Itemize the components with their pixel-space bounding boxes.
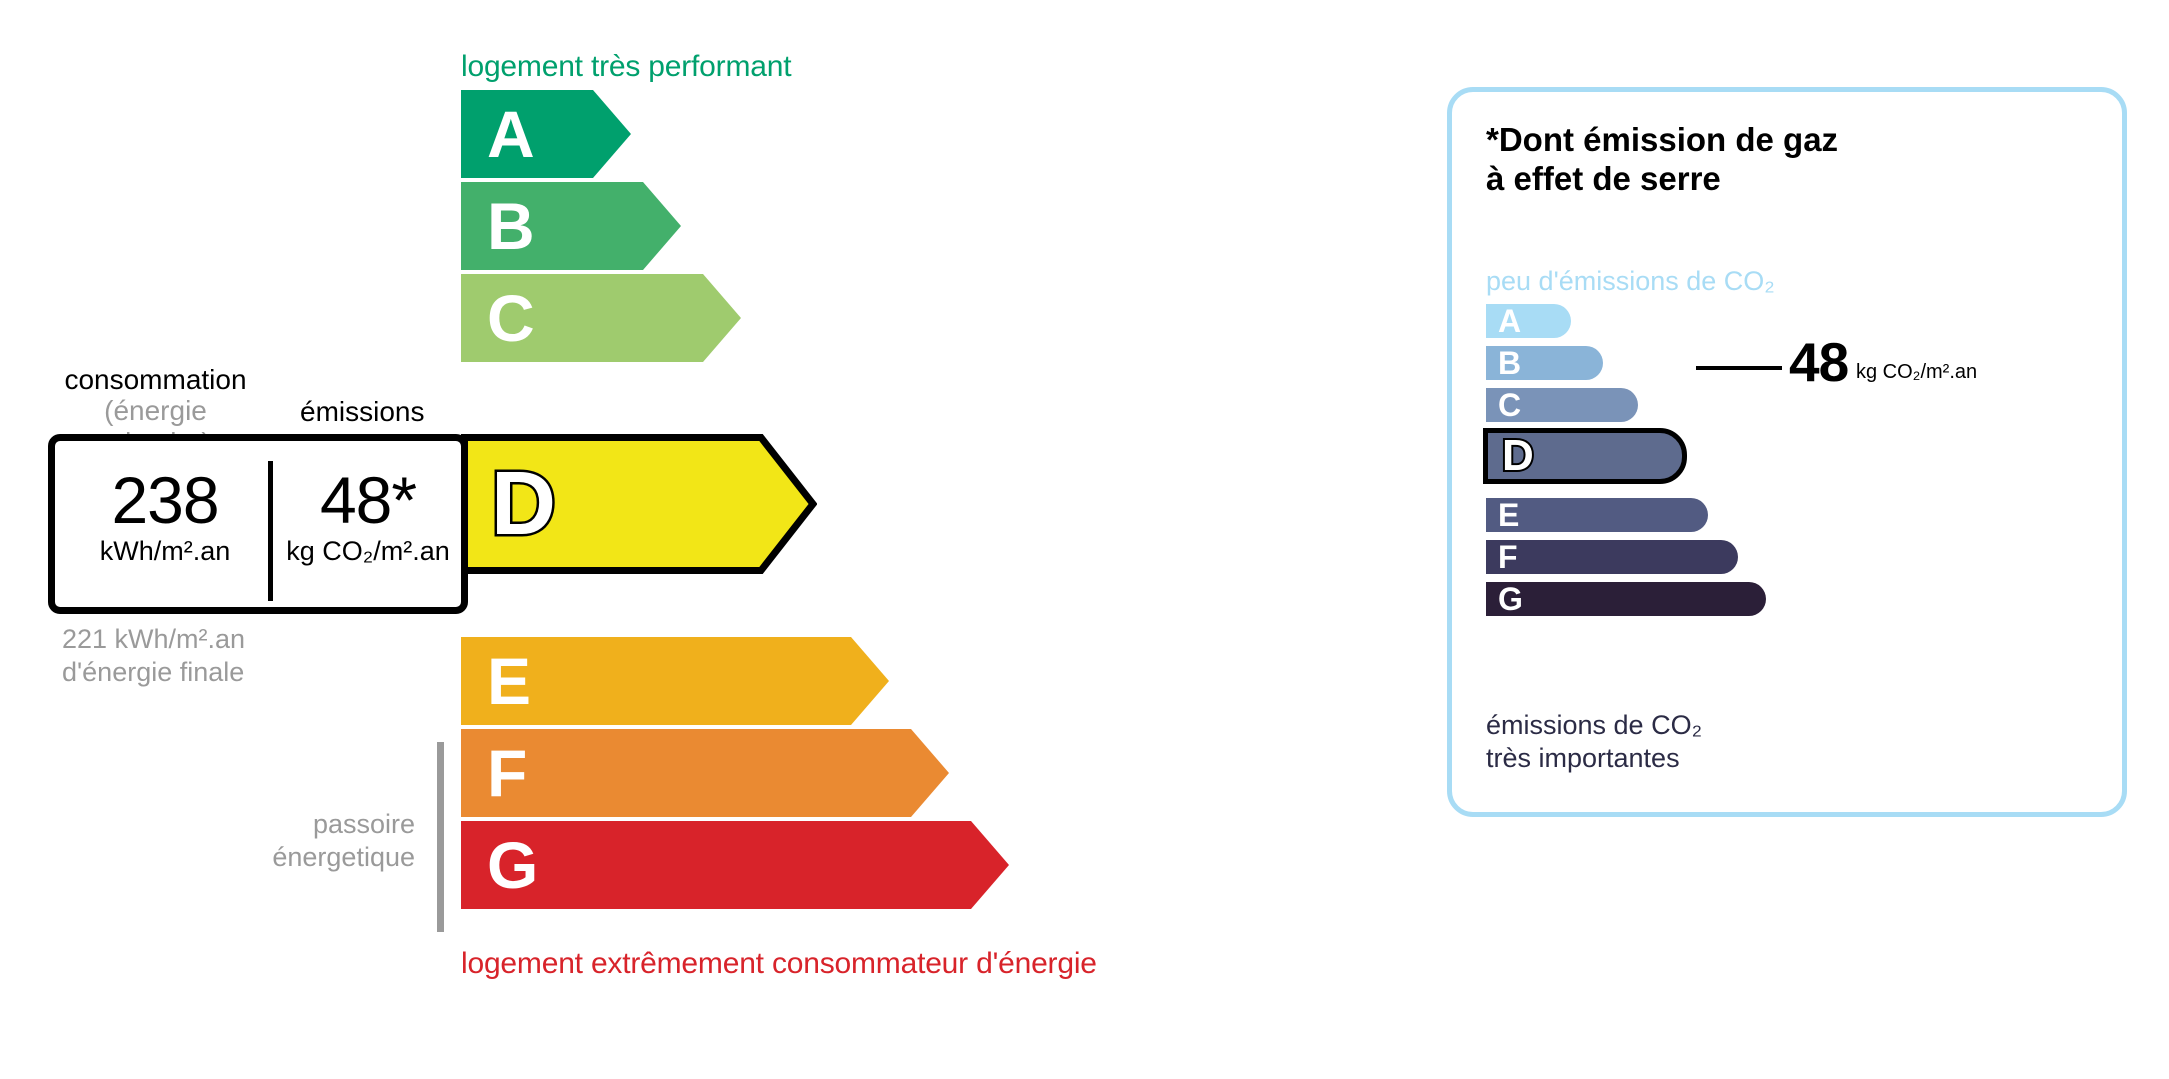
co2-class-row-f: F [1486,540,1738,574]
co2-callout-value: 48 [1789,335,1848,390]
co2-class-letter-e: E [1498,499,1519,531]
final-energy-note-line1: 221 kWh/m².an [62,623,245,656]
final-energy-note: 221 kWh/m².an d'énergie finale [62,623,245,689]
energy-class-letter-a: A [487,101,535,167]
co2-callout-unit: kg CO₂/m².an [1856,361,1977,384]
final-energy-note-line2: d'énergie finale [62,656,245,689]
co2-title-line2: à effet de serre [1486,160,1838,199]
co2-class-row-e: E [1486,498,1708,532]
consumption-unit: kWh/m².an [65,537,265,567]
co2-class-letter-a: A [1498,305,1521,337]
co2-class-row-a: A [1486,304,1571,338]
energy-class-row-c: C [461,274,741,362]
energy-arrow-f [461,729,949,817]
co2-title-line1: *Dont émission de gaz [1486,121,1838,160]
energy-class-row-g: G [461,821,1009,909]
energy-class-row-a: A [461,90,631,178]
energy-class-letter-e: E [487,648,531,714]
energy-class-letter-f: F [487,740,527,806]
energy-class-row-d-selected: D [461,434,817,574]
passoire-bracket [437,742,444,932]
co2-class-row-g: G [1486,582,1766,616]
co2-callout-leader-line [1696,366,1782,370]
energy-performance-chart: logement très performant A B C D E [0,0,1400,1079]
energy-bottom-caption: logement extrêmement consommateur d'éner… [461,947,1097,981]
energy-class-letter-d: D [491,459,556,549]
energy-class-letter-g: G [487,832,538,898]
co2-emissions-panel: *Dont émission de gaz à effet de serre p… [1447,87,2127,817]
co2-top-caption: peu d'émissions de CO₂ [1486,266,1775,297]
co2-panel-title: *Dont émission de gaz à effet de serre [1486,121,1838,198]
co2-class-letter-g: G [1498,583,1523,615]
energy-class-row-f: F [461,729,949,817]
consumption-value-cell: 238 kWh/m².an [65,467,265,567]
co2-class-letter-c: C [1498,389,1521,421]
energy-class-row-e: E [461,637,889,725]
co2-class-letter-f: F [1498,541,1518,573]
co2-class-row-b: B [1486,346,1603,380]
co2-class-row-d-selected: D [1483,428,1687,484]
consumption-value: 238 [65,467,265,533]
emissions-label: émissions [300,396,424,428]
energy-top-caption: logement très performant [461,50,791,84]
emission-value: 48* [273,467,463,533]
co2-class-letter-d: D [1502,434,1534,478]
passoire-label: passoire énergetique [200,808,415,874]
emission-value-cell: 48* kg CO₂/m².an [273,467,463,567]
co2-bottom-caption-line1: émissions de CO₂ [1486,709,1702,742]
emission-unit: kg CO₂/m².an [273,537,463,567]
co2-bottom-caption-line2: très importantes [1486,742,1702,775]
value-box: 238 kWh/m².an 48* kg CO₂/m².an [48,434,468,614]
energy-class-letter-b: B [487,193,535,259]
passoire-label-line2: énergetique [200,841,415,874]
energy-arrow-g [461,821,1009,909]
passoire-label-line1: passoire [200,808,415,841]
consumption-label-main: consommation [64,364,246,395]
co2-bottom-caption: émissions de CO₂ très importantes [1486,709,1702,775]
co2-class-letter-b: B [1498,347,1521,379]
energy-class-row-b: B [461,182,681,270]
co2-class-row-c: C [1486,388,1638,422]
energy-class-letter-c: C [487,285,535,351]
